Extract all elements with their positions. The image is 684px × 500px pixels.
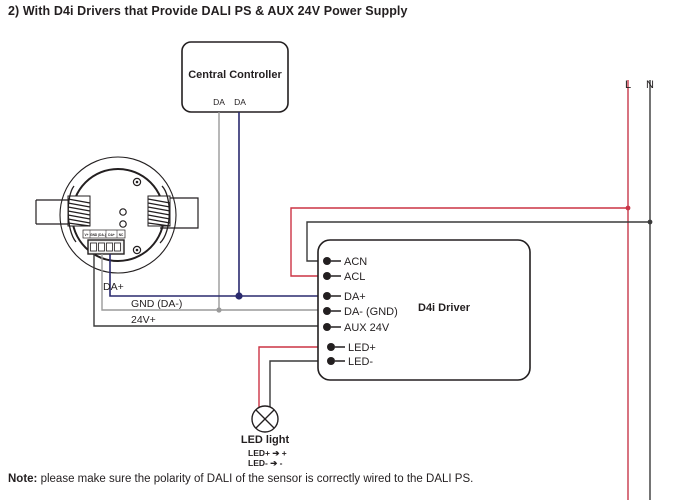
diagram-canvas: L N Central Controller DA DA — [0, 0, 684, 500]
sensor-screw-top-core — [136, 181, 139, 184]
driver-terminal-label-da-plus: DA+ — [344, 291, 366, 303]
terminal-dot — [323, 292, 331, 300]
page-title: 2) With D4i Drivers that Provide DALI PS… — [8, 4, 408, 18]
d4i-driver: D4i Driver ACN ACL DA+ DA- (GND) — [318, 240, 530, 380]
controller-terminal-da2: DA — [234, 97, 246, 107]
note-text: please make sure the polarity of DALI of… — [37, 473, 473, 485]
driver-terminal-label-acl: ACL — [344, 271, 365, 283]
wire-label-24v: 24V+ — [131, 314, 156, 326]
footer-note: Note: please make sure the polarity of D… — [8, 473, 473, 485]
mains-live-label: L — [625, 79, 631, 91]
terminal-dot — [327, 343, 335, 351]
ceiling-sensor: V+ GND (DA-) DA+ NC — [36, 157, 198, 273]
controller-label: Central Controller — [188, 69, 282, 81]
controller-terminal-da1: DA — [213, 97, 225, 107]
terminal-dot — [327, 357, 335, 365]
sensor-lens-upper — [120, 209, 126, 215]
wiring-diagram: 2) With D4i Drivers that Provide DALI PS… — [0, 0, 684, 500]
driver-terminal-label-aux24v: AUX 24V — [344, 322, 390, 334]
sensor-terminal-label-1: GND (DA-) — [90, 233, 106, 237]
note-prefix: Note: — [8, 473, 37, 485]
wire-led-minus — [270, 361, 325, 408]
wire-label-da-plus: DA+ — [103, 281, 124, 293]
sensor-terminal-label-0: V+ — [85, 233, 89, 237]
lamp-polarity-minus: LED- ➔ - — [248, 458, 283, 468]
sensor-screw-bottom-core — [136, 249, 139, 252]
sensor-terminal-strip-labels: V+ GND (DA-) DA+ NC — [83, 230, 125, 238]
lamp-polarity-plus: LED+ ➔ + — [248, 448, 287, 458]
lamp-label: LED light — [241, 434, 290, 446]
dali-bus-wiring — [216, 112, 242, 313]
mains-neutral-label: N — [646, 79, 654, 91]
led-light: LED light LED+ ➔ + LED- ➔ - — [241, 406, 290, 468]
driver-terminal-label-acn: ACN — [344, 256, 367, 268]
terminal-dot — [323, 272, 331, 280]
wire-led-plus — [259, 347, 325, 408]
driver-terminal-label-led-minus: LED- — [348, 356, 373, 368]
mains-supply: L N — [625, 79, 654, 500]
led-load-wiring — [259, 347, 325, 408]
driver-terminal-label-led-plus: LED+ — [348, 342, 376, 354]
driver-terminal-label-da-minus: DA- (GND) — [344, 306, 398, 318]
central-controller: Central Controller DA DA — [182, 42, 288, 112]
sensor-terminal-label-2: DA+ — [108, 233, 115, 237]
sensor-terminal-label-3: NC — [119, 233, 124, 237]
sensor-lens-lower — [120, 221, 126, 227]
terminal-dot — [323, 323, 331, 331]
driver-label: D4i Driver — [418, 302, 471, 314]
terminal-dot — [323, 307, 331, 315]
terminal-dot — [323, 257, 331, 265]
wire-label-gnd: GND (DA-) — [131, 298, 182, 310]
sensor-terminal-block — [88, 240, 124, 254]
